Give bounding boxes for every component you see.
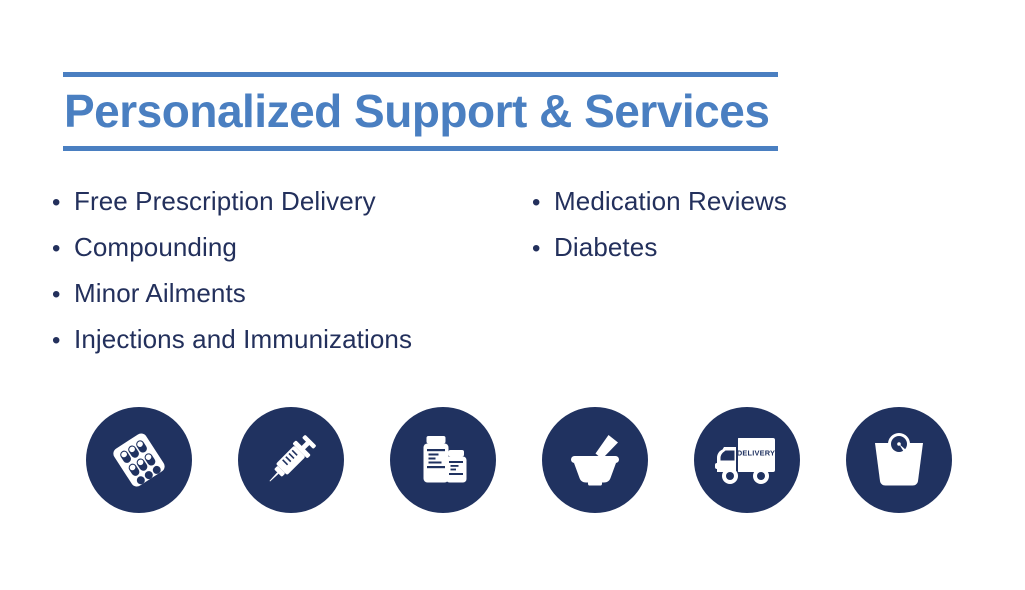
- list-item: • Minor Ailments: [52, 270, 532, 316]
- bullet-icon: •: [532, 180, 554, 226]
- syringe-icon: [259, 428, 323, 492]
- title-rule-bottom: [63, 146, 778, 151]
- truck-delivery-text: DELIVERY: [737, 449, 775, 458]
- service-label: Minor Ailments: [74, 270, 246, 316]
- bullet-icon: •: [52, 226, 74, 272]
- bullet-icon: •: [532, 226, 554, 272]
- icon-badge-delivery-truck: DELIVERY: [694, 407, 800, 513]
- service-icon-row: DELIVERY: [86, 407, 946, 513]
- services-column-left: • Free Prescription Delivery • Compoundi…: [52, 178, 532, 362]
- services-column-right: • Medication Reviews • Diabetes: [532, 178, 932, 270]
- list-item: • Diabetes: [532, 224, 932, 270]
- service-label: Medication Reviews: [554, 178, 787, 224]
- blister-pack-icon: [108, 429, 170, 491]
- service-label: Free Prescription Delivery: [74, 178, 376, 224]
- icon-badge-weight-scale: [846, 407, 952, 513]
- page-title: Personalized Support & Services: [63, 77, 778, 146]
- services-lists: • Free Prescription Delivery • Compoundi…: [52, 178, 952, 362]
- bullet-icon: •: [52, 318, 74, 364]
- icon-badge-pill-bottles: [390, 407, 496, 513]
- mortar-pestle-icon: [564, 429, 626, 491]
- weight-scale-icon: [869, 431, 929, 489]
- delivery-truck-icon: DELIVERY: [713, 432, 781, 488]
- list-item: • Injections and Immunizations: [52, 316, 532, 362]
- icon-badge-mortar-pestle: [542, 407, 648, 513]
- service-label: Injections and Immunizations: [74, 316, 412, 362]
- service-label: Diabetes: [554, 224, 657, 270]
- icon-badge-syringe: [238, 407, 344, 513]
- list-item: • Free Prescription Delivery: [52, 178, 532, 224]
- services-list-right: • Medication Reviews • Diabetes: [532, 178, 932, 270]
- service-label: Compounding: [74, 224, 237, 270]
- services-list-left: • Free Prescription Delivery • Compoundi…: [52, 178, 532, 362]
- bullet-icon: •: [52, 272, 74, 318]
- list-item: • Compounding: [52, 224, 532, 270]
- pill-bottles-icon: [413, 430, 473, 490]
- list-item: • Medication Reviews: [532, 178, 932, 224]
- title-block: Personalized Support & Services: [63, 72, 778, 151]
- icon-badge-blister-pack: [86, 407, 192, 513]
- bullet-icon: •: [52, 180, 74, 226]
